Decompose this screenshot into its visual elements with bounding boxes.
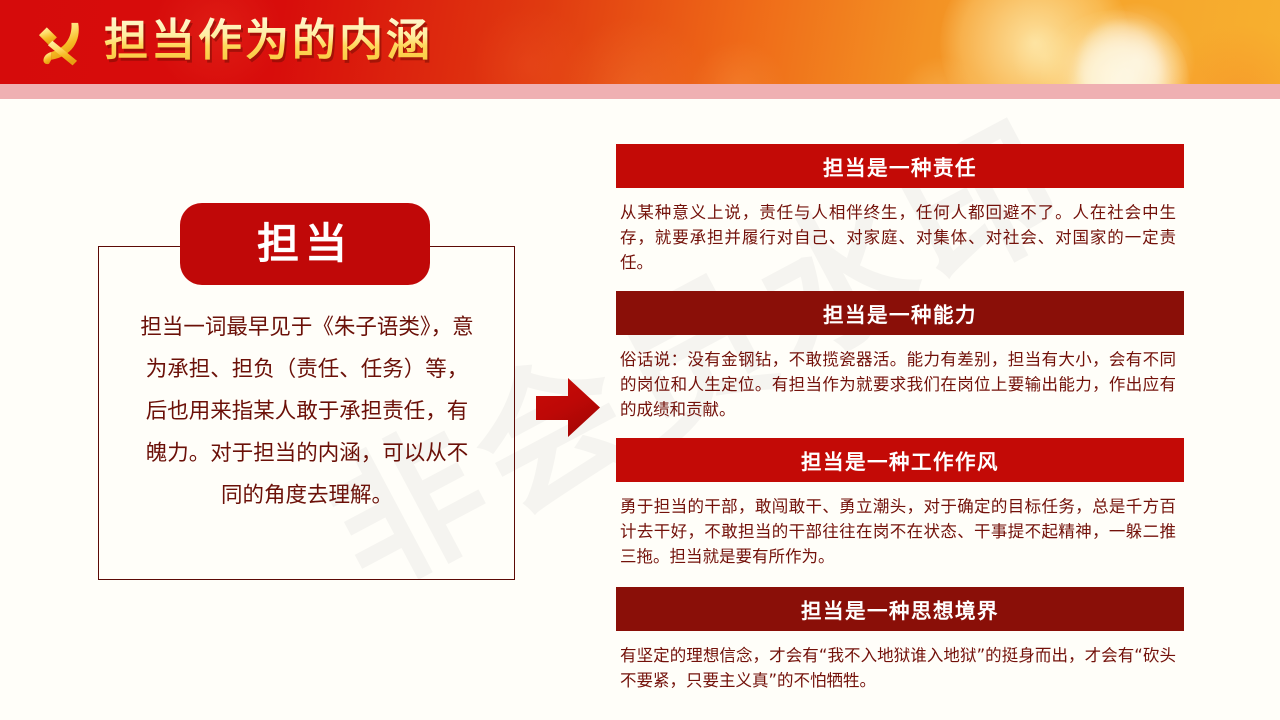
- bokeh-circle: [1160, 22, 1280, 84]
- bokeh-circle: [1068, 18, 1188, 84]
- aspect-panel-body: 从某种意义上说，责任与人相伴终生，任何人都回避不了。人在社会中生存，就要承担并履…: [616, 188, 1184, 285]
- bokeh-circle: [1078, 2, 1196, 84]
- aspect-panel-title: 担当是一种工作作风: [801, 445, 999, 475]
- header-banner: 担当作为的内涵: [0, 0, 1280, 84]
- bokeh-circle: [1078, 24, 1162, 84]
- bokeh-circle: [1040, 10, 1190, 84]
- aspect-panel: 担当是一种思想境界 有坚定的理想信念，才会有“我不入地狱谁入地狱”的挺身而出，才…: [616, 587, 1184, 703]
- aspect-panel-body: 勇于担当的干部，敢闯敢干、勇立潮头，对于确定的目标任务，总是千方百计去干好，不敢…: [616, 482, 1184, 579]
- bokeh-circle: [470, 5, 590, 84]
- bokeh-circle: [1075, 28, 1171, 84]
- aspect-panel: 担当是一种工作作风 勇于担当的干部，敢闯敢干、勇立潮头，对于确定的目标任务，总是…: [616, 438, 1184, 579]
- bokeh-circle: [1040, 58, 1158, 84]
- header-underline-strip: [0, 84, 1280, 99]
- definition-title-pill: 担当: [180, 203, 430, 285]
- aspect-panel-header: 担当是一种工作作风: [616, 438, 1184, 482]
- bokeh-circle: [940, 0, 1130, 84]
- aspect-panel: 担当是一种能力 俗话说：没有金钢钻，不敢揽瓷器活。能力有差别，担当有大小，会有不…: [616, 291, 1184, 432]
- bokeh-circle: [1078, 40, 1164, 84]
- slide-canvas: 担当作为的内涵 非会员水印 担当 担当一词最早见于《朱子语类》，意为承担、担负（…: [0, 0, 1280, 720]
- aspect-panel-body: 俗话说：没有金钢钻，不敢揽瓷器活。能力有差别，担当有大小，会有不同的岗位和人生定…: [616, 335, 1184, 432]
- bokeh-circle: [1012, 24, 1078, 84]
- bokeh-circle: [898, 56, 984, 84]
- aspect-panel-title: 担当是一种思想境界: [801, 594, 999, 624]
- aspect-panel: 担当是一种责任 从某种意义上说，责任与人相伴终生，任何人都回避不了。人在社会中生…: [616, 144, 1184, 285]
- right-arrow-icon: [534, 374, 602, 442]
- aspect-panel-header: 担当是一种能力: [616, 291, 1184, 335]
- definition-block: 担当 担当一词最早见于《朱子语类》，意为承担、担负（责任、任务）等，后也用来指某…: [98, 203, 518, 583]
- page-title: 担当作为的内涵: [104, 11, 433, 71]
- aspects-panel-stack: 担当是一种责任 从某种意义上说，责任与人相伴终生，任何人都回避不了。人在社会中生…: [616, 144, 1184, 703]
- aspect-panel-body: 有坚定的理想信念，才会有“我不入地狱谁入地狱”的挺身而出，才会有“砍头不要紧，只…: [616, 631, 1184, 703]
- bokeh-circle: [690, 40, 786, 84]
- aspect-panel-header: 担当是一种思想境界: [616, 587, 1184, 631]
- definition-title-label: 担当: [257, 223, 353, 265]
- aspect-panel-title: 担当是一种责任: [823, 151, 977, 181]
- aspect-panel-title: 担当是一种能力: [823, 298, 977, 328]
- party-emblem-icon: [30, 15, 86, 71]
- bokeh-circle: [560, 16, 710, 84]
- bokeh-circle: [1088, 36, 1226, 84]
- aspect-panel-header: 担当是一种责任: [616, 144, 1184, 188]
- definition-body-text: 担当一词最早见于《朱子语类》，意为承担、担负（责任、任务）等，后也用来指某人敢于…: [136, 307, 478, 517]
